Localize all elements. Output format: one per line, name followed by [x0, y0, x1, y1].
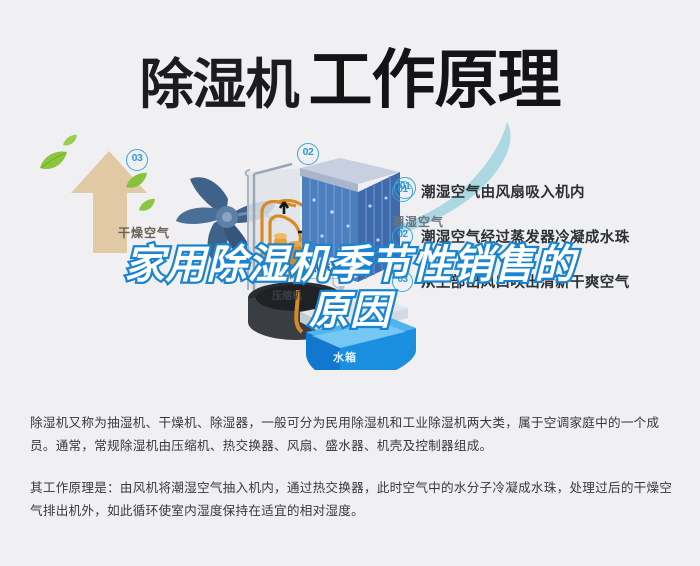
- leaf-icon: [138, 198, 156, 213]
- label-compressor: 压缩机: [272, 287, 302, 302]
- legend-badge-03: 03: [392, 271, 413, 292]
- label-water-tank: 水箱: [333, 349, 357, 365]
- legend-label-01: 潮湿空气由风扇吸入机内: [421, 181, 585, 202]
- infographic-page: 除湿机 工作原理: [0, 0, 700, 566]
- label-dry-air: 干燥空气: [118, 224, 170, 241]
- diagram-badge-02: 02: [297, 143, 319, 165]
- body-paragraph-2: 其工作原理是：由风机将潮湿空气抽入机内，通过热交换器，此时空气中的水分子冷凝成水…: [30, 477, 675, 523]
- page-title-part-b: 工作原理: [309, 48, 561, 112]
- legend-label-03: 从上部出风口吹出清新干爽空气: [421, 271, 630, 292]
- legend-item: 03 从上部出风口吹出清新干爽空气: [392, 270, 692, 292]
- leaf-icon: [125, 172, 148, 190]
- legend-item: 02 潮湿空气经过蒸发器冷凝成水珠: [392, 225, 692, 247]
- page-title-part-a: 除湿机: [140, 58, 299, 112]
- body-paragraph-1: 除湿机又称为抽湿机、干燥机、除湿器，一般可分为民用除湿机和工业除湿机两大类，属于…: [30, 412, 675, 458]
- page-title: 除湿机 工作原理: [0, 22, 700, 112]
- leaf-icon: [62, 134, 78, 147]
- legend-badge-01: 01: [392, 181, 413, 202]
- legend-badge-02: 02: [392, 226, 413, 247]
- body-copy: 除湿机又称为抽湿机、干燥机、除湿器，一般可分为民用除湿机和工业除湿机两大类，属于…: [30, 412, 675, 523]
- callout-tail-icon: [331, 274, 353, 294]
- legend-item: 01 潮湿空气由风扇吸入机内: [392, 180, 692, 202]
- legend-list: 01 潮湿空气由风扇吸入机内 02 潮湿空气经过蒸发器冷凝成水珠 03 从上部出…: [392, 180, 692, 315]
- leaf-icon: [38, 150, 68, 172]
- diagram-badge-03: 03: [126, 149, 148, 171]
- legend-label-02: 潮湿空气经过蒸发器冷凝成水珠: [421, 226, 630, 247]
